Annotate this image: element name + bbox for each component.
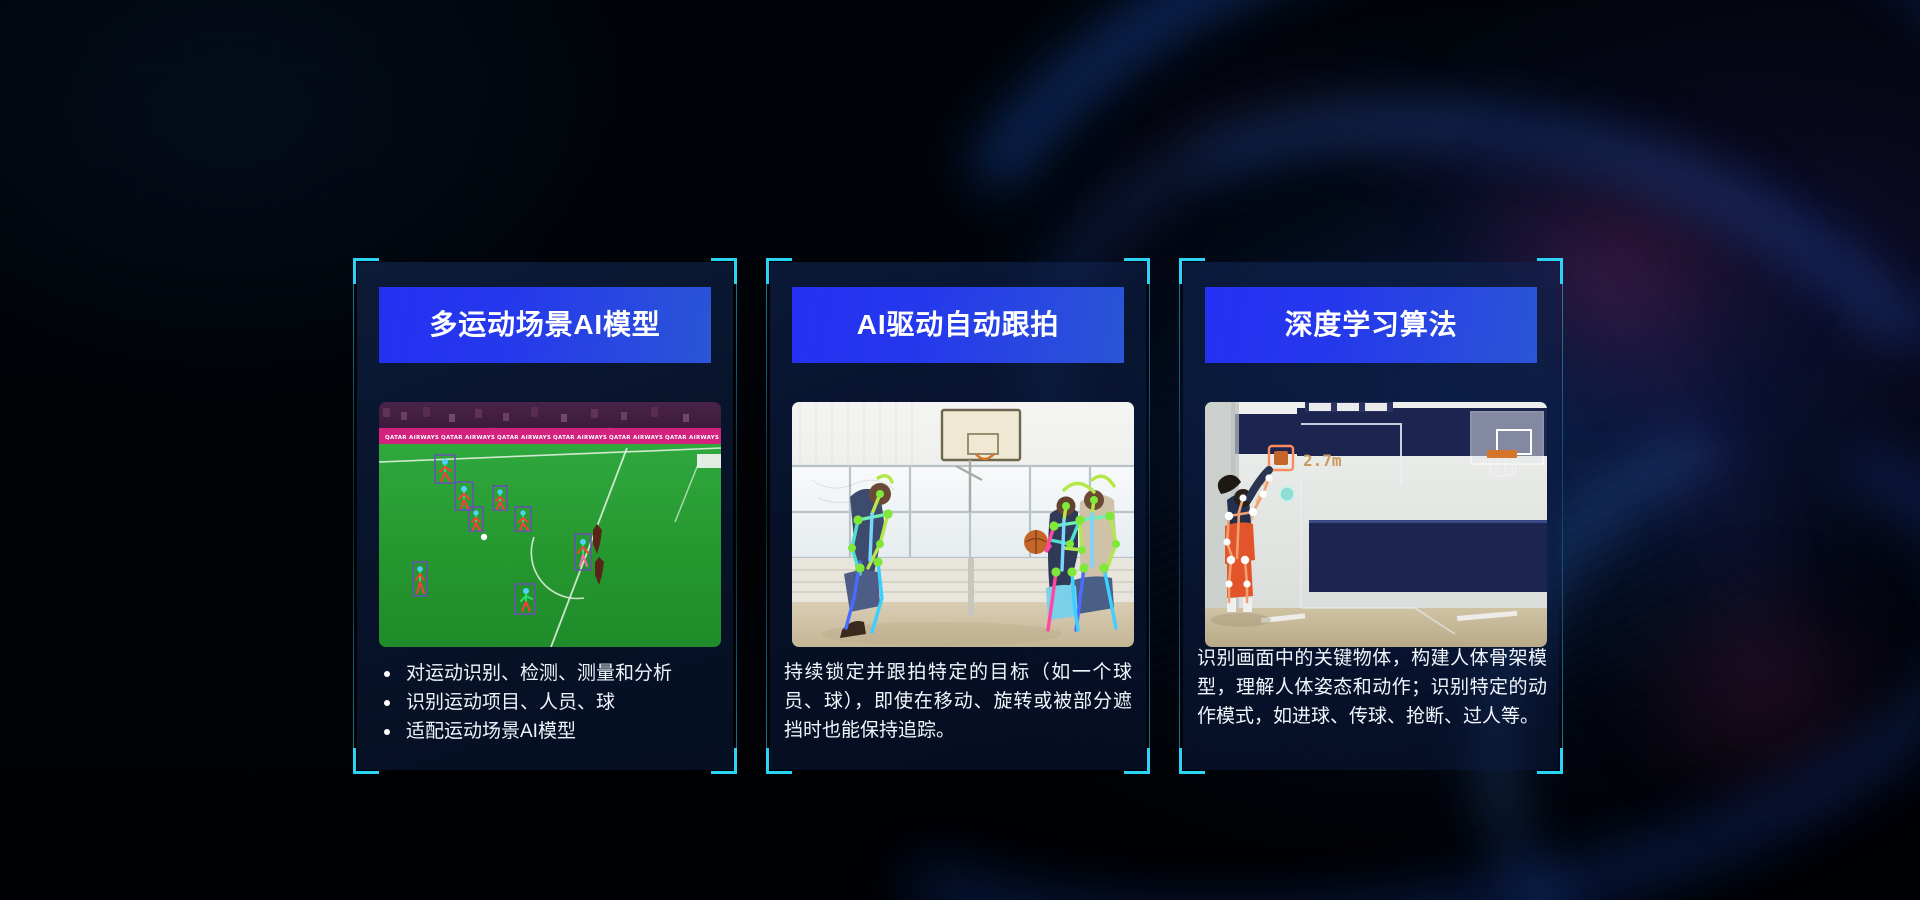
- shot-trajectory-illustration: 2.7m: [1205, 402, 1547, 647]
- list-item: 适配运动场景AI模型: [381, 718, 713, 746]
- card-header-banner: 深度学习算法: [1205, 287, 1537, 363]
- card-body-bullets: 对运动识别、检测、测量和分析 识别运动项目、人员、球 适配运动场景AI模型: [381, 660, 713, 747]
- corner-bracket-top-left: [1179, 258, 1205, 284]
- svg-text:QATAR AIRWAYS: QATAR AIRWAYS: [441, 435, 495, 441]
- svg-text:QATAR AIRWAYS: QATAR AIRWAYS: [609, 435, 663, 441]
- feature-card-deep-learning[interactable]: 深度学习算法: [1183, 262, 1559, 770]
- card-title: 深度学习算法: [1285, 311, 1458, 339]
- list-item: 对运动识别、检测、测量和分析: [381, 660, 713, 688]
- corner-bracket-top-left: [766, 258, 792, 284]
- soccer-detection-illustration: QATAR AIRWAYS QATAR AIRWAYS QATAR AIRWAY…: [379, 402, 721, 647]
- svg-text:QATAR AIRWAYS: QATAR AIRWAYS: [553, 435, 607, 441]
- card-body-paragraph: 识别画面中的关键物体，构建人体骨架模型，理解人体姿态和动作；识别特定的动作模式，…: [1197, 644, 1547, 731]
- card-edge-left: [766, 284, 767, 748]
- card-title: 多运动场景AI模型: [429, 311, 660, 339]
- card-thumbnail-soccer-detection[interactable]: QATAR AIRWAYS QATAR AIRWAYS QATAR AIRWAY…: [379, 402, 721, 647]
- svg-text:QATAR AIRWAYS: QATAR AIRWAYS: [665, 435, 719, 441]
- svg-text:QATAR AIRWAYS: QATAR AIRWAYS: [385, 435, 439, 441]
- corner-bracket-top-right: [1124, 258, 1150, 284]
- card-header-banner: 多运动场景AI模型: [379, 287, 711, 363]
- card-edge-right: [736, 284, 737, 748]
- card-thumbnail-pose-tracking[interactable]: [792, 402, 1134, 647]
- corner-bracket-top-right: [711, 258, 737, 284]
- card-edge-left: [1179, 284, 1180, 748]
- basketball-pose-illustration: [792, 402, 1134, 647]
- corner-bracket-top-left: [353, 258, 379, 284]
- feature-bullet-list: 对运动识别、检测、测量和分析 识别运动项目、人员、球 适配运动场景AI模型: [381, 660, 713, 746]
- card-edge-right: [1149, 284, 1150, 748]
- feature-card-ai-auto-tracking[interactable]: AI驱动自动跟拍: [770, 262, 1146, 770]
- card-edge-left: [353, 284, 354, 748]
- list-item: 识别运动项目、人员、球: [381, 689, 713, 717]
- page-stage: 多运动场景AI模型: [0, 0, 1920, 900]
- corner-bracket-top-right: [1537, 258, 1563, 284]
- distance-annotation: 2.7m: [1303, 451, 1342, 470]
- feature-card-sports-ai-model[interactable]: 多运动场景AI模型: [357, 262, 733, 770]
- card-edge-right: [1562, 284, 1563, 748]
- feature-card-row: 多运动场景AI模型: [357, 262, 1560, 770]
- feature-description: 持续锁定并跟拍特定的目标（如一个球员、球），即使在移动、旋转或被部分遮挡时也能保…: [784, 658, 1132, 745]
- card-thumbnail-shot-trajectory[interactable]: 2.7m: [1205, 402, 1547, 647]
- feature-description: 识别画面中的关键物体，构建人体骨架模型，理解人体姿态和动作；识别特定的动作模式，…: [1197, 644, 1547, 731]
- card-title: AI驱动自动跟拍: [857, 311, 1059, 339]
- svg-text:QATAR AIRWAYS: QATAR AIRWAYS: [497, 435, 551, 441]
- card-body-paragraph: 持续锁定并跟拍特定的目标（如一个球员、球），即使在移动、旋转或被部分遮挡时也能保…: [784, 658, 1132, 745]
- card-header-banner: AI驱动自动跟拍: [792, 287, 1124, 363]
